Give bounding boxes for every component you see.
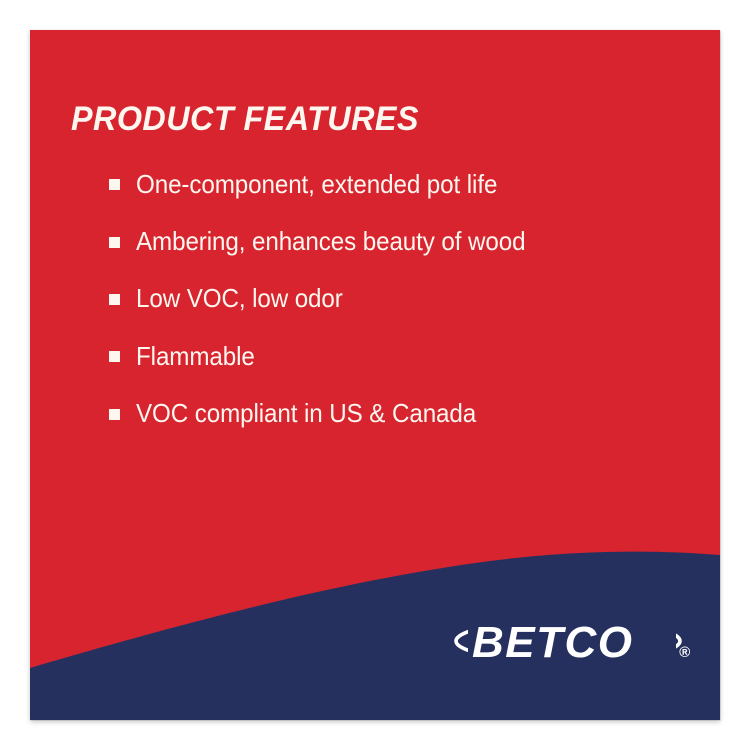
- feature-label: Flammable: [136, 343, 255, 369]
- list-item: Low VOC, low odor: [109, 270, 669, 327]
- square-bullet-icon: [109, 409, 120, 420]
- square-bullet-icon: [109, 237, 120, 248]
- square-bullet-icon: [109, 351, 120, 362]
- feature-label: Ambering, enhances beauty of wood: [136, 228, 525, 254]
- square-bullet-icon: [109, 179, 120, 190]
- betco-ellipse-logo: BETCO ®: [450, 610, 700, 672]
- betco-logo: BETCO ®: [450, 610, 700, 672]
- feature-label: One-component, extended pot life: [136, 171, 497, 197]
- feature-label: Low VOC, low odor: [136, 285, 343, 311]
- product-features-card: PRODUCT FEATURES One-component, extended…: [30, 30, 720, 720]
- logo-wordmark-text: BETCO: [472, 618, 634, 667]
- square-bullet-icon: [109, 294, 120, 305]
- list-item: VOC compliant in US & Canada: [109, 385, 669, 442]
- page-title: PRODUCT FEATURES: [71, 102, 419, 136]
- list-item: One-component, extended pot life: [109, 155, 669, 212]
- registered-trademark-icon: ®: [679, 644, 691, 661]
- feature-label: VOC compliant in US & Canada: [136, 400, 476, 426]
- list-item: Flammable: [109, 327, 669, 384]
- page-root: PRODUCT FEATURES One-component, extended…: [0, 0, 750, 750]
- list-item: Ambering, enhances beauty of wood: [109, 212, 669, 269]
- features-list: One-component, extended pot life Amberin…: [109, 155, 669, 442]
